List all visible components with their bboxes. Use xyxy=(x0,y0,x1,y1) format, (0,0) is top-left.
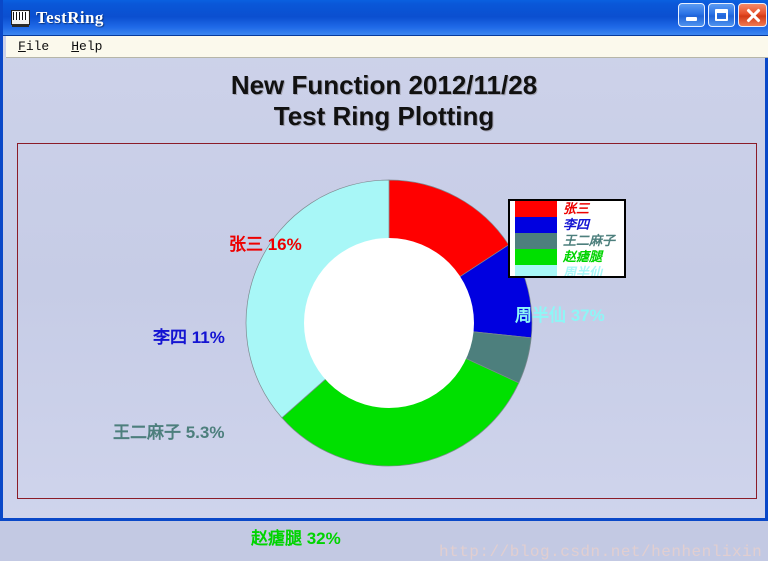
minimize-button[interactable] xyxy=(678,3,705,27)
menu-item-file[interactable]: File xyxy=(10,38,59,55)
chart-canvas: New Function 2012/11/28 Test Ring Plotti… xyxy=(3,58,765,518)
window-title: TestRing xyxy=(36,8,104,28)
chart-title-line1: New Function 2012/11/28 xyxy=(231,70,537,100)
menu-file-accelerator: F xyxy=(18,39,26,54)
application-icon xyxy=(11,8,30,27)
slice-label-wangermazi: 王二麻子 5.3% xyxy=(113,418,224,443)
donut-chart xyxy=(245,179,533,467)
legend-item[interactable]: 赵瘧腿 xyxy=(510,249,624,265)
legend-swatch xyxy=(515,201,557,217)
legend-swatch xyxy=(515,217,557,233)
legend-item[interactable]: 张三 xyxy=(510,201,624,217)
legend-item[interactable]: 李四 xyxy=(510,217,624,233)
legend-label: 赵瘧腿 xyxy=(563,249,602,265)
minimize-icon xyxy=(679,4,704,26)
close-button[interactable] xyxy=(738,3,767,27)
legend-label: 李四 xyxy=(563,217,589,233)
legend-item[interactable]: 周半仙 xyxy=(510,265,624,278)
close-icon xyxy=(739,4,766,26)
title-bar: TestRing xyxy=(3,0,768,36)
window-controls xyxy=(678,3,767,27)
legend-swatch xyxy=(515,233,557,249)
chart-legend: 张三 李四 王二麻子 赵瘧腿 周半仙 xyxy=(508,199,626,278)
menu-item-help[interactable]: Help xyxy=(63,38,112,55)
maximize-button[interactable] xyxy=(708,3,735,27)
menu-file-rest: ile xyxy=(26,39,49,54)
slice-label-zhaoquetui: 赵瘧腿 32% xyxy=(251,524,341,549)
slice-label-lisi: 李四 11% xyxy=(153,323,225,348)
legend-swatch xyxy=(515,249,557,265)
menu-help-accelerator: H xyxy=(71,39,79,54)
donut-hole xyxy=(304,238,474,408)
donut-svg xyxy=(245,179,533,467)
chart-title: New Function 2012/11/28 Test Ring Plotti… xyxy=(3,70,765,132)
legend-swatch xyxy=(515,265,557,278)
slice-label-zhoubanxian: 周半仙 37% xyxy=(515,301,605,326)
legend-item[interactable]: 王二麻子 xyxy=(510,233,624,249)
menu-bar: File Help xyxy=(6,36,768,58)
application-window: TestRing File Help New Function 2012/11/… xyxy=(0,0,768,521)
legend-label: 王二麻子 xyxy=(563,233,615,249)
maximize-icon xyxy=(709,4,734,26)
chart-title-line2: Test Ring Plotting xyxy=(3,101,765,132)
watermark: http://blog.csdn.net/henhenlixin xyxy=(439,543,762,561)
legend-label: 周半仙 xyxy=(563,265,602,278)
menu-help-rest: elp xyxy=(79,39,102,54)
legend-label: 张三 xyxy=(563,201,589,217)
slice-label-zhangsan: 张三 16% xyxy=(229,230,302,255)
